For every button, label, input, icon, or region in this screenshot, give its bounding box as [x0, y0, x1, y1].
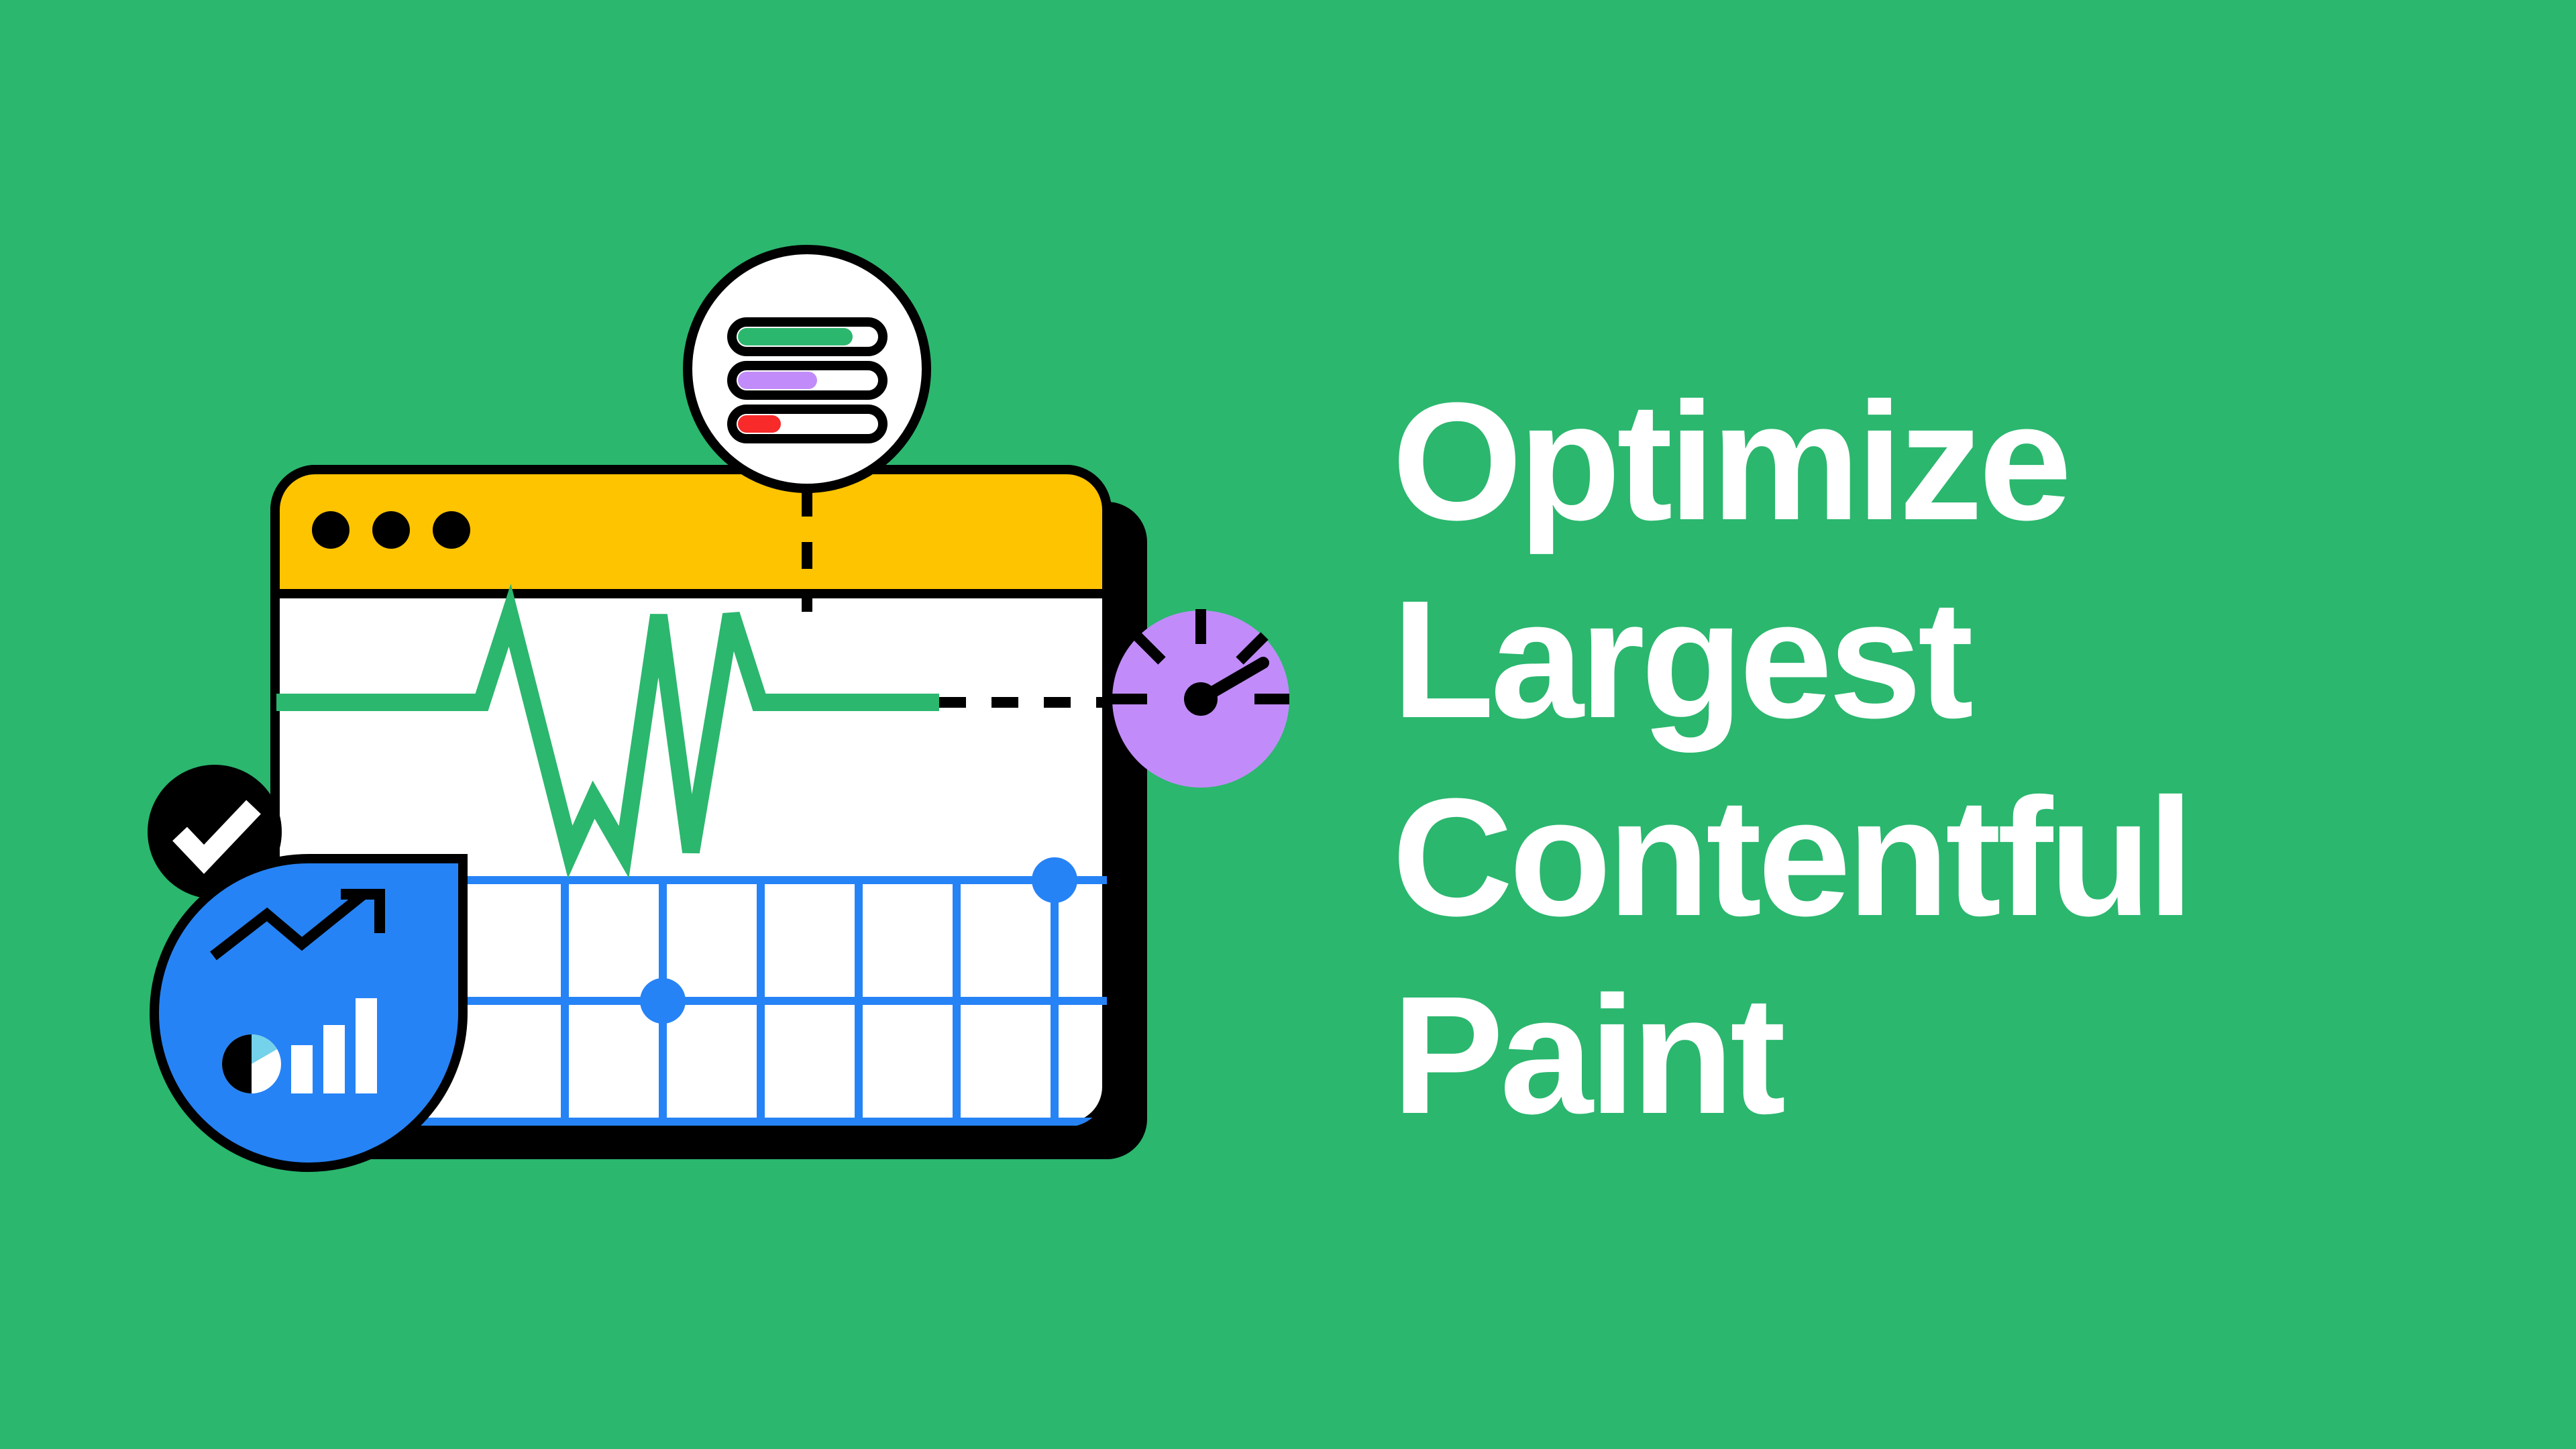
metric-bar-red-fill: [738, 415, 781, 433]
metrics-bubble[interactable]: [688, 250, 926, 488]
analytics-badge-shape: [154, 859, 463, 1167]
metric-bar-green-fill: [738, 328, 853, 345]
grid-point-b[interactable]: [1032, 857, 1077, 903]
window-dot-1[interactable]: [312, 511, 350, 549]
pie-chart-icon: [222, 1034, 281, 1093]
metric-bar-purple-fill: [738, 372, 817, 389]
analytics-bar-1: [291, 1045, 313, 1093]
grid-point-a[interactable]: [640, 978, 686, 1024]
analytics-badge[interactable]: [154, 859, 463, 1167]
speed-gauge[interactable]: [1112, 609, 1289, 788]
gauge-hub: [1184, 682, 1218, 716]
analytics-bar-3: [356, 998, 377, 1093]
analytics-bar-2: [323, 1025, 345, 1093]
page-title: Optimize Largest Contentful Paint: [1392, 362, 2351, 1154]
window-dot-3[interactable]: [433, 511, 470, 549]
window-dot-2[interactable]: [372, 511, 410, 549]
illustration-canvas: Optimize Largest Contentful Paint: [0, 0, 2576, 1449]
